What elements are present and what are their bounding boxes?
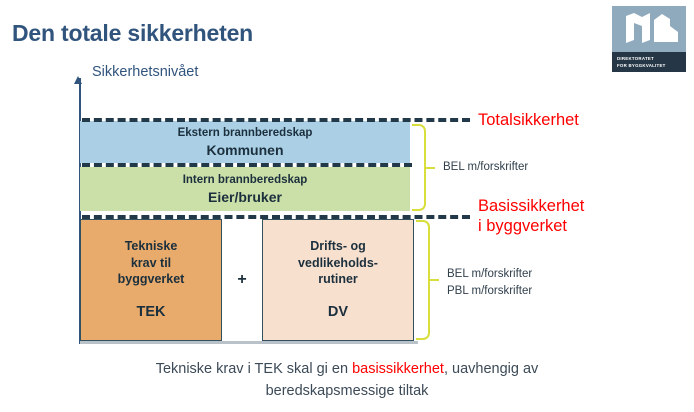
block-dv-line3: rutiner — [263, 271, 413, 288]
block-tek-code: TEK — [81, 304, 221, 320]
diagram-baseline — [80, 341, 418, 344]
caption-line1: Tekniske krav i TEK skal gi en basissikk… — [0, 358, 694, 380]
logo-mark-icon — [612, 6, 686, 52]
dashed-line-mid — [82, 163, 412, 167]
block-tek-line2: krav til — [81, 255, 221, 272]
dashed-line-totalsikkerhet — [82, 118, 470, 122]
block-tek: Tekniske krav til byggverket TEK — [80, 219, 222, 341]
caption-highlight: basissikkerhet — [352, 361, 444, 377]
logo-text-line2: FOR BYGGKVALITET — [617, 63, 686, 70]
caption-part2: , uavhengig av — [444, 361, 538, 377]
callout-basissikkerhet-line2: i byggverket — [478, 216, 584, 236]
block-dv: Drifts- og vedlikeholds- rutiner DV — [262, 219, 414, 341]
callout-basissikkerhet-line1: Basissikkerhet — [478, 196, 584, 216]
logo-wordmark: DIREKTORATET FOR BYGGKVALITET — [612, 52, 686, 72]
bracket-lower — [416, 220, 430, 340]
block-tek-line3: byggverket — [81, 271, 221, 288]
annotation-bel-upper: BEL m/forskrifter — [443, 159, 528, 176]
dashed-line-basissikkerhet — [82, 215, 470, 219]
block-intern-line1: Intern brannberedskap — [80, 173, 410, 188]
block-dv-code: DV — [263, 304, 413, 320]
plus-icon: + — [222, 219, 262, 341]
axis-label-sikkerhetsniva: Sikkerhetsnivået — [92, 64, 198, 80]
callout-basissikkerhet: Basissikkerhet i byggverket — [478, 196, 584, 236]
dibk-logo: DIREKTORATET FOR BYGGKVALITET — [612, 6, 686, 72]
block-ekstern-line2: Kommunen — [80, 141, 410, 159]
bracket-upper-tick — [426, 167, 435, 169]
block-dv-line1: Drifts- og — [263, 238, 413, 255]
axis-arrow-icon — [74, 76, 82, 84]
block-intern-brannberedskap: Intern brannberedskap Eier/bruker — [80, 167, 410, 211]
caption: Tekniske krav i TEK skal gi en basissikk… — [0, 358, 694, 402]
block-ekstern-brannberedskap: Ekstern brannberedskap Kommunen — [80, 121, 410, 163]
annotation-bel-pbl-lower: BEL m/forskrifter PBL m/forskrifter — [447, 266, 532, 300]
page-title: Den totale sikkerheten — [12, 20, 253, 47]
caption-part1: Tekniske krav i TEK skal gi en — [156, 361, 352, 377]
bracket-upper — [412, 124, 426, 211]
caption-line2: beredskapsmessige tiltak — [0, 380, 694, 402]
logo-text-line1: DIREKTORATET — [617, 56, 686, 63]
block-dv-line2: vedlikeholds- — [263, 255, 413, 272]
annotation-pbl-lower: PBL m/forskrifter — [447, 283, 532, 300]
bracket-lower-tick — [430, 279, 439, 281]
block-ekstern-line1: Ekstern brannberedskap — [80, 126, 410, 141]
block-intern-line2: Eier/bruker — [80, 188, 410, 206]
annotation-bel-lower: BEL m/forskrifter — [447, 266, 532, 283]
block-tek-line1: Tekniske — [81, 238, 221, 255]
callout-totalsikkerhet: Totalsikkerhet — [478, 110, 579, 130]
